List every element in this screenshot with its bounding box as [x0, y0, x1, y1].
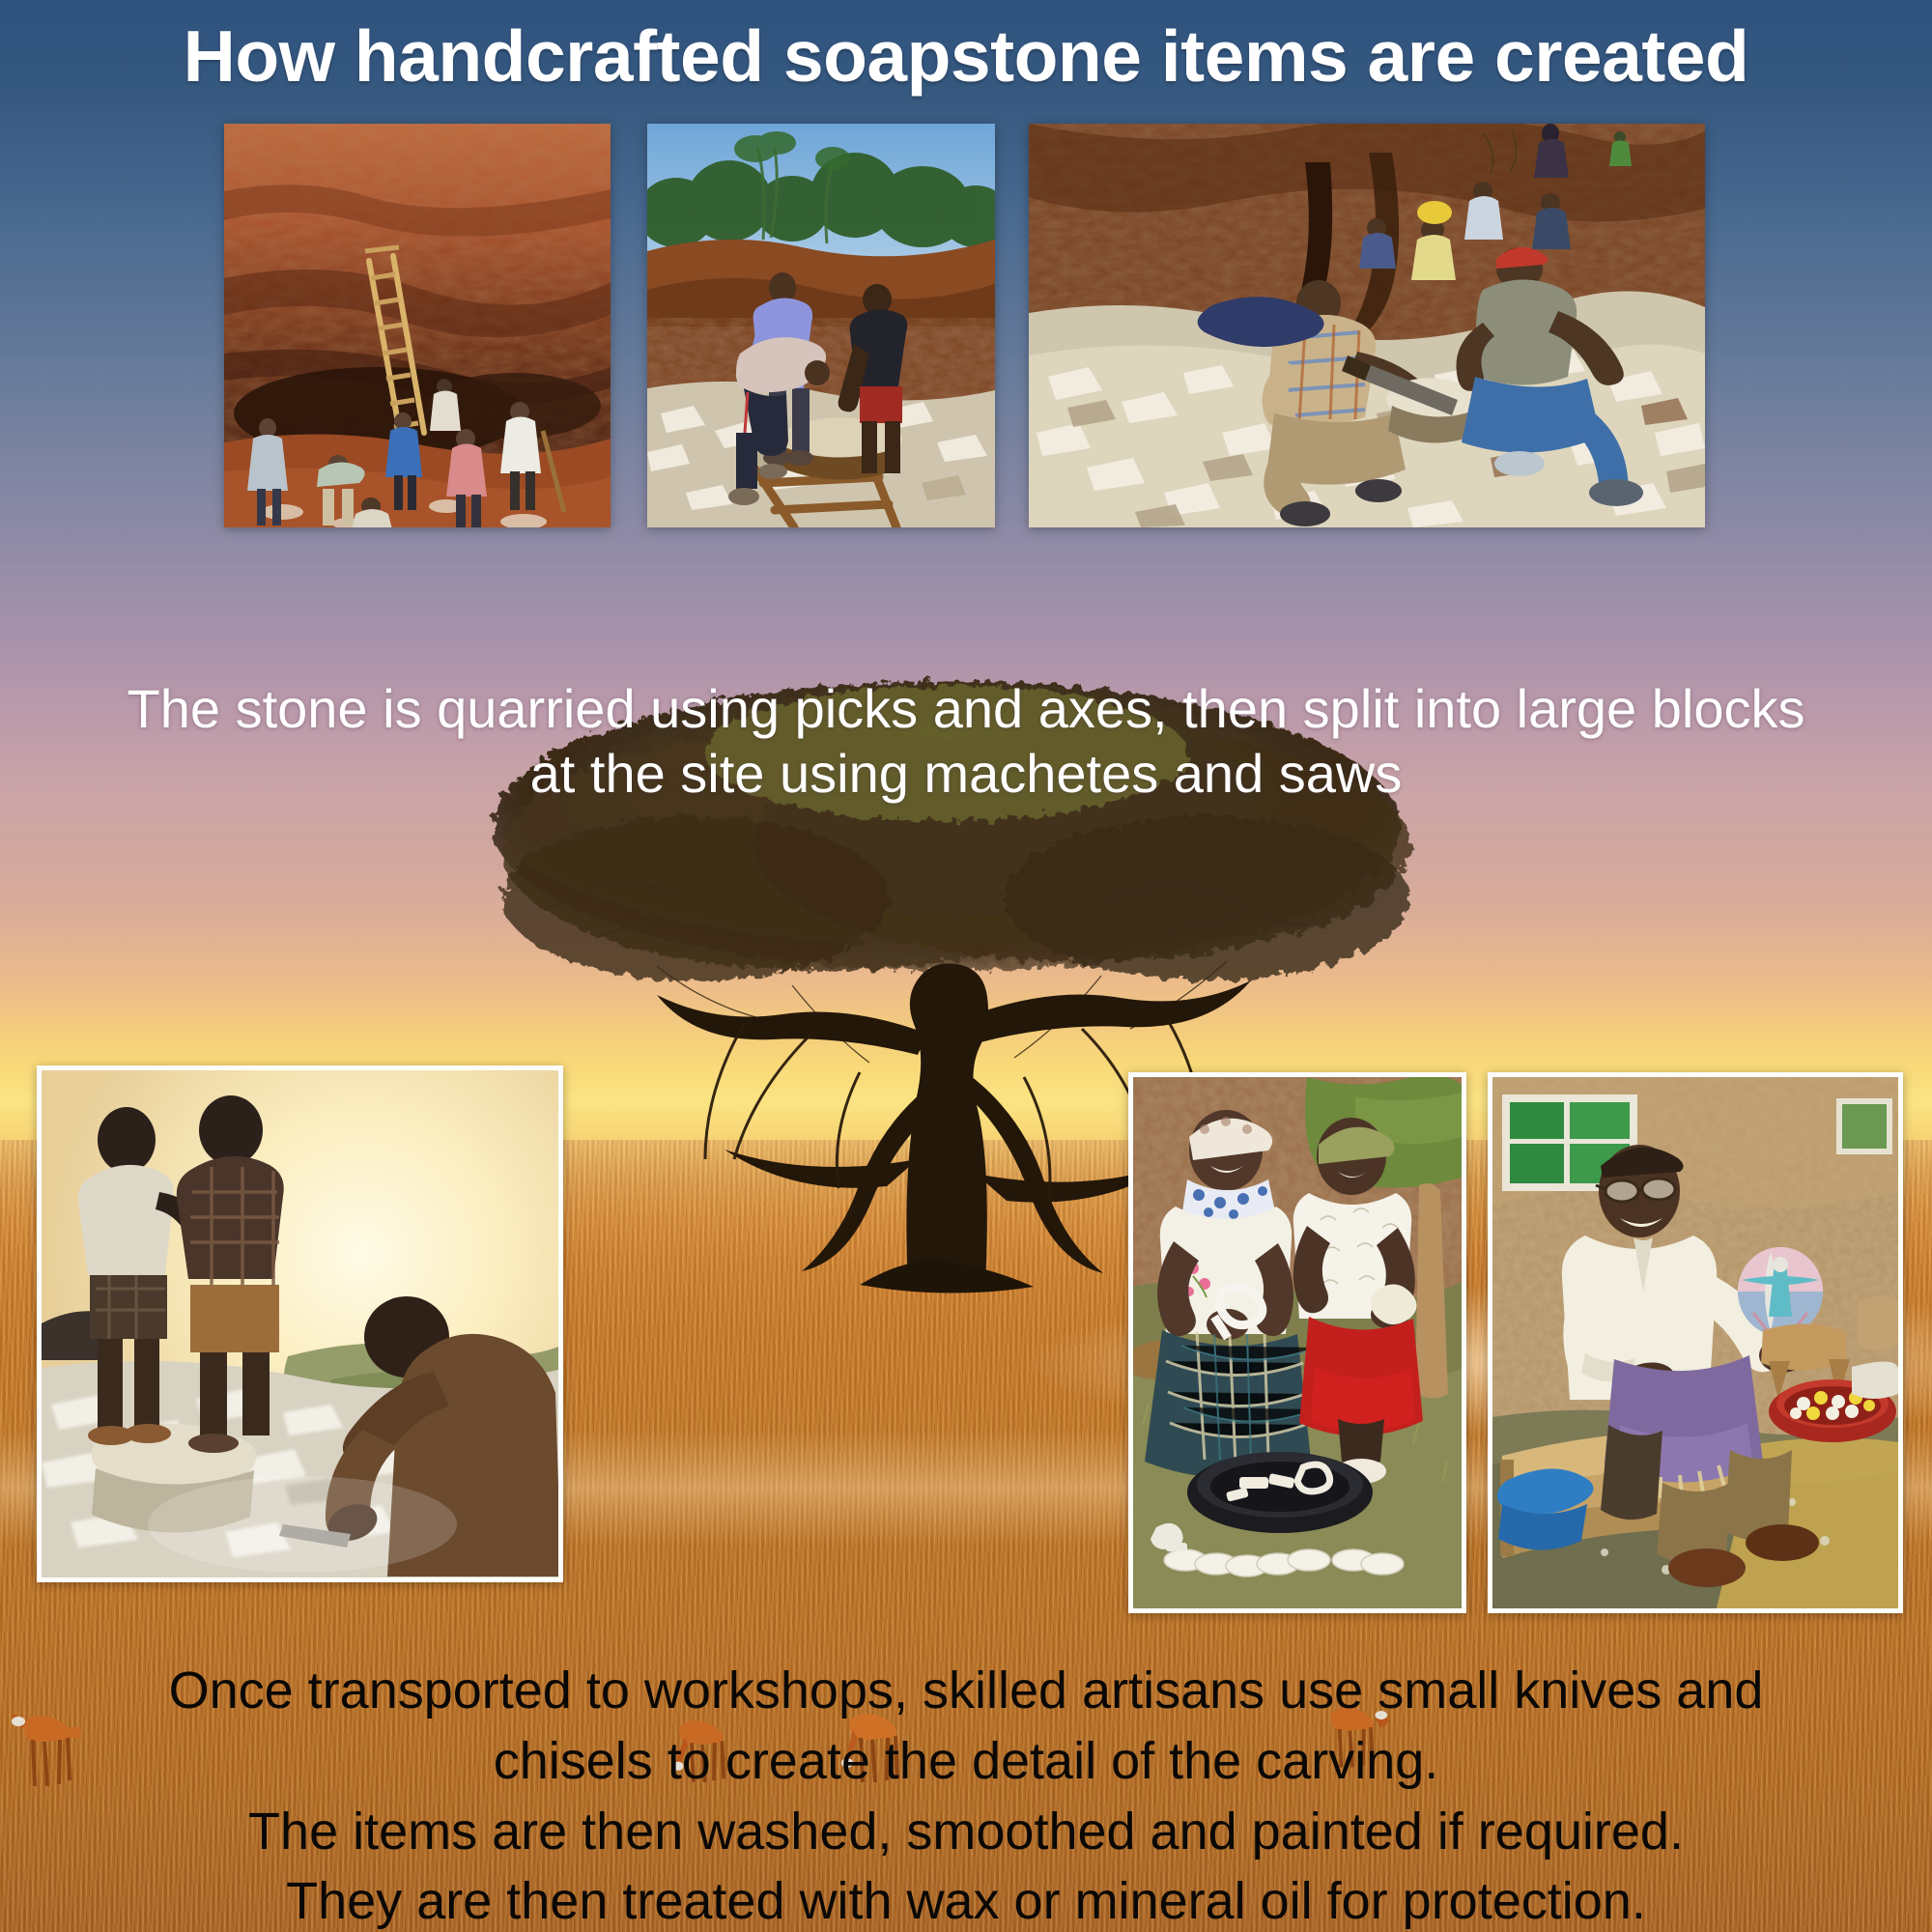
- photo-cutting-stone-with-saw: [1029, 124, 1705, 527]
- photo-quarry-pit-with-ladder: [224, 124, 611, 527]
- caption-workshop: Once transported to workshops, skilled a…: [0, 1660, 1932, 1932]
- photo-splitting-blocks: [647, 124, 995, 527]
- page-title: How handcrafted soapstone items are crea…: [184, 14, 1749, 98]
- caption-workshop-line4: They are then treated with wax or minera…: [0, 1870, 1932, 1932]
- caption-quarry-line1: The stone is quarried using picks and ax…: [0, 676, 1932, 741]
- photo-women-washing-carvings: [1128, 1072, 1466, 1613]
- caption-workshop-line1: Once transported to workshops, skilled a…: [0, 1660, 1932, 1722]
- caption-workshop-line3: The items are then washed, smoothed and …: [0, 1801, 1932, 1863]
- photo-artisan-painting-plate: [1488, 1072, 1903, 1613]
- title-bar: How handcrafted soapstone items are crea…: [0, 0, 1932, 111]
- photo-workshop-carver-with-children: [37, 1065, 563, 1582]
- caption-quarry-line2: at the site using machetes and saws: [0, 741, 1932, 806]
- caption-quarry: The stone is quarried using picks and ax…: [0, 676, 1932, 806]
- caption-workshop-line2: chisels to create the detail of the carv…: [0, 1730, 1932, 1793]
